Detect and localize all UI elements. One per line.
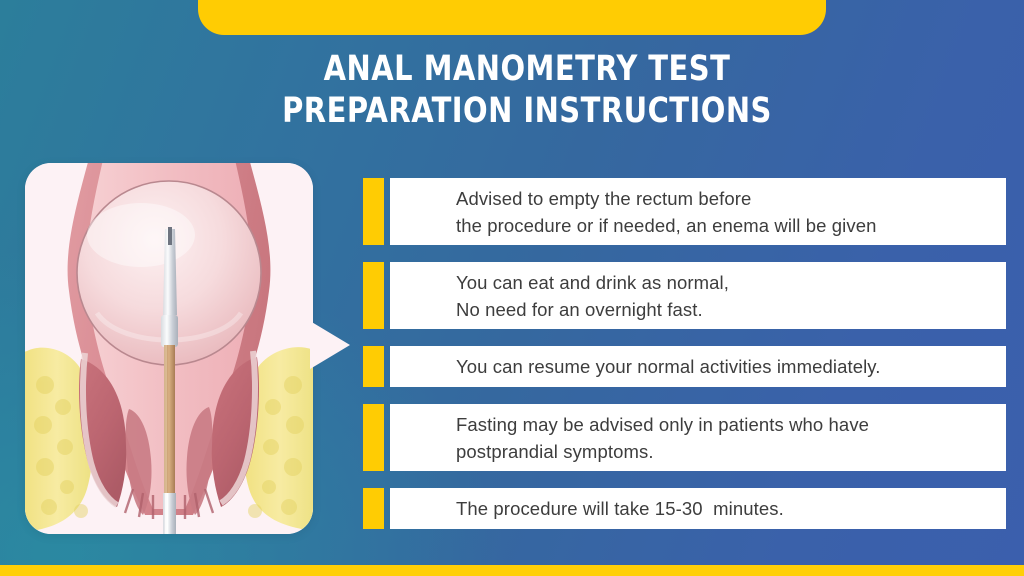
bullet-accent-bar — [363, 178, 384, 245]
bottom-yellow-strip — [0, 565, 1024, 576]
balloon-specular-highlight — [87, 203, 195, 267]
infographic-canvas: ANAL MANOMETRY TEST PREPARATION INSTRUCT… — [0, 0, 1024, 576]
bullet-accent-bar — [363, 404, 384, 471]
instruction-line: You can resume your normal activities im… — [456, 353, 1006, 380]
list-item[interactable]: Fasting may be advised only in patients … — [363, 404, 1006, 471]
callout-pointer — [310, 321, 350, 369]
catheter-shaft-highlight — [164, 345, 167, 495]
instruction-card: The procedure will take 15-30 minutes. — [390, 488, 1006, 529]
instruction-line: The procedure will take 15-30 minutes. — [456, 495, 1006, 522]
probe-sensor-eyelet — [168, 227, 172, 245]
instruction-card: You can eat and drink as normal, No need… — [390, 262, 1006, 329]
anorectal-manometry-illustration — [25, 163, 313, 534]
page-title: ANAL MANOMETRY TEST PREPARATION INSTRUCT… — [0, 48, 1024, 132]
list-item[interactable]: You can resume your normal activities im… — [363, 346, 1006, 387]
instruction-line: You can eat and drink as normal, — [456, 269, 1006, 296]
list-item[interactable]: You can eat and drink as normal, No need… — [363, 262, 1006, 329]
top-yellow-banner — [198, 0, 826, 35]
instruction-line: No need for an overnight fast. — [456, 296, 1006, 323]
illustration-card — [25, 163, 313, 534]
instruction-line: the procedure or if needed, an enema wil… — [456, 212, 1006, 239]
instruction-line: Advised to empty the rectum before — [456, 185, 1006, 212]
catheter-connector-highlight — [165, 493, 168, 534]
bullet-accent-bar — [363, 346, 384, 387]
list-item[interactable]: The procedure will take 15-30 minutes. — [363, 488, 1006, 529]
instruction-line: postprandial symptoms. — [456, 438, 1006, 465]
instruction-line: Fasting may be advised only in patients … — [456, 411, 1006, 438]
title-line-2: PREPARATION INSTRUCTIONS — [70, 90, 984, 132]
instruction-card: Fasting may be advised only in patients … — [390, 404, 1006, 471]
instruction-card: You can resume your normal activities im… — [390, 346, 1006, 387]
catheter-collar — [161, 315, 178, 347]
instruction-card: Advised to empty the rectum before the p… — [390, 178, 1006, 245]
instructions-list: Advised to empty the rectum before the p… — [363, 178, 1006, 546]
bullet-accent-bar — [363, 488, 384, 529]
catheter-connector — [163, 493, 176, 534]
bullet-accent-bar — [363, 262, 384, 329]
list-item[interactable]: Advised to empty the rectum before the p… — [363, 178, 1006, 245]
title-line-1: ANAL MANOMETRY TEST — [70, 48, 984, 90]
